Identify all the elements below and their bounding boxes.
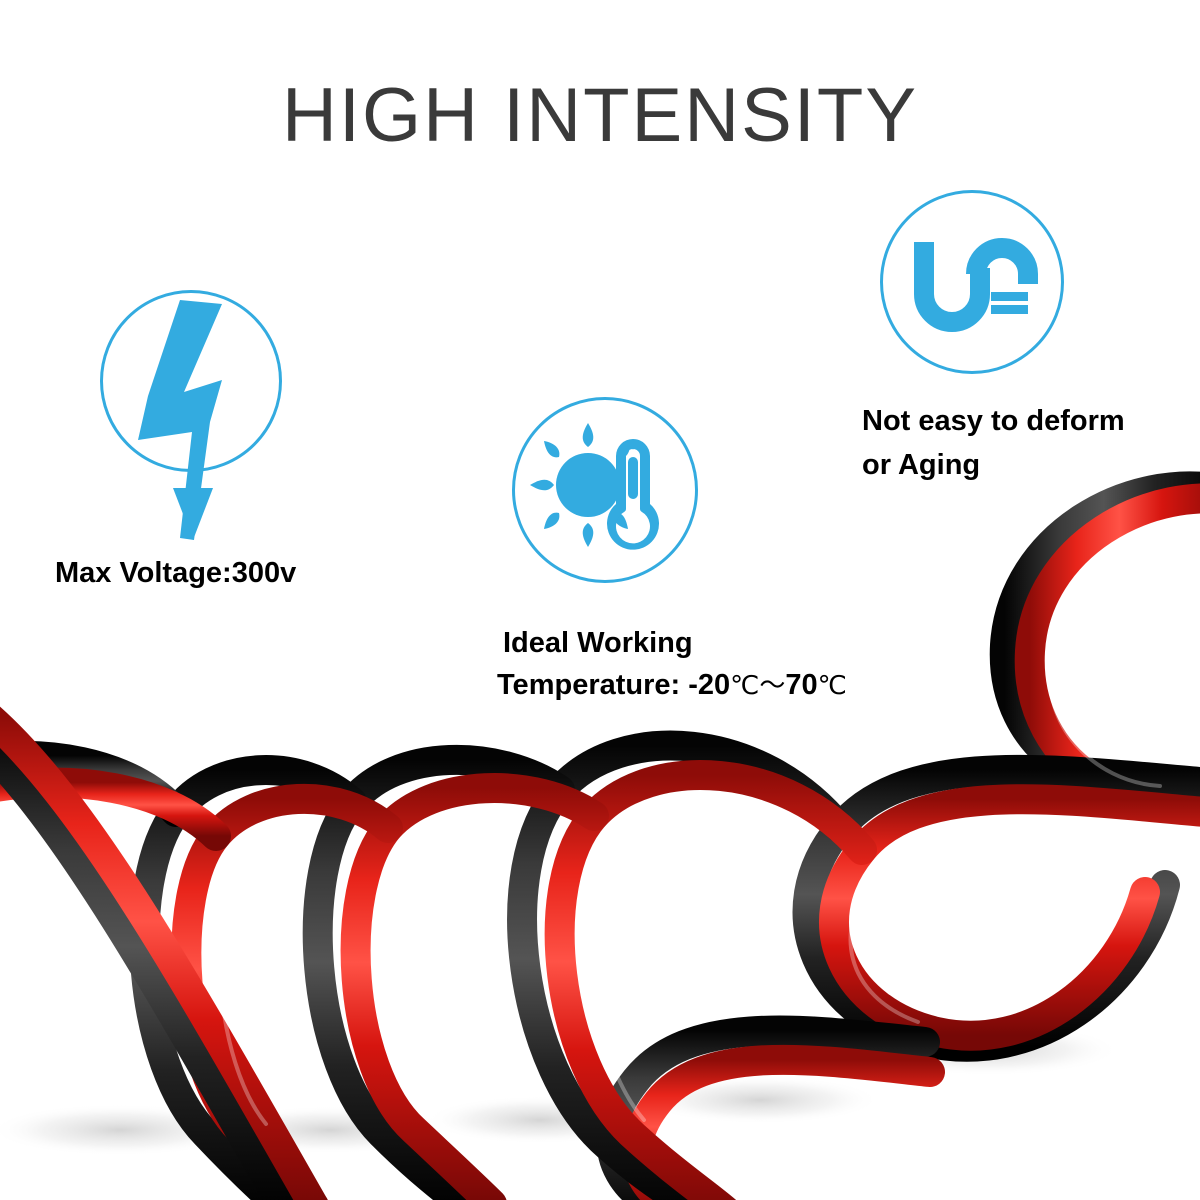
bend-magnet-icon: [898, 208, 1046, 356]
infographic-canvas: HIGH INTENSITY Max Voltage:300v: [0, 0, 1200, 1200]
wire-coil-turn: [1005, 486, 1200, 800]
product-photo-coiled-wire: [0, 430, 1200, 1200]
wire-coil-turn: [808, 770, 1200, 1047]
page-title: HIGH INTENSITY: [0, 72, 1200, 159]
coiled-wire-illustration: [0, 430, 1200, 1200]
